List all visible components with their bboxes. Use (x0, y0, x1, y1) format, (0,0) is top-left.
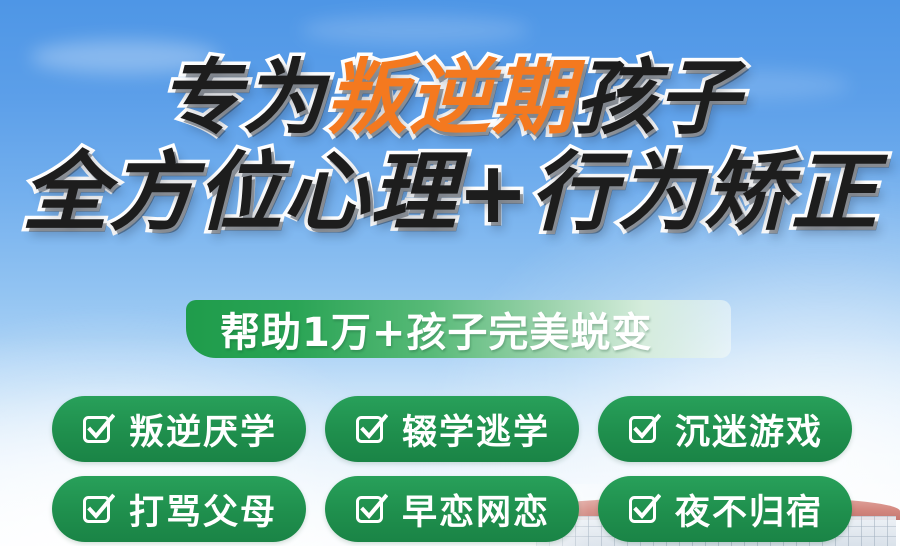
headline-line-2: 全方位心理+行为矫正 (0, 150, 900, 236)
tag-label: 夜不归宿 (675, 484, 823, 535)
tag-item[interactable]: 夜不归宿 (598, 476, 852, 542)
promo-banner: 专为叛逆期孩子 全方位心理+行为矫正 帮助1万+孩子完美蜕变 叛逆厌学 辍学逃学 (0, 0, 900, 546)
tag-item[interactable]: 辍学逃学 (325, 396, 579, 462)
checkbox-checked-icon (627, 412, 661, 446)
tag-list: 叛逆厌学 辍学逃学 沉迷游戏 打骂父母 (52, 396, 852, 542)
tag-label: 叛逆厌学 (129, 404, 277, 455)
cloud-wisp (300, 16, 530, 44)
headline-line1-suffix: 孩子 (575, 58, 741, 140)
subtitle-text: 帮助1万+孩子完美蜕变 (186, 300, 652, 358)
checkbox-checked-icon (627, 492, 661, 526)
checkbox-checked-icon (354, 412, 388, 446)
headline-line-1: 专为叛逆期孩子 (0, 58, 900, 140)
headline-line1-accent: 叛逆期 (326, 58, 575, 140)
checkbox-checked-icon (354, 492, 388, 526)
tag-item[interactable]: 叛逆厌学 (52, 396, 306, 462)
tag-label: 打骂父母 (129, 484, 277, 535)
tag-label: 早恋网恋 (402, 484, 550, 535)
tag-label: 辍学逃学 (402, 404, 550, 455)
checkbox-checked-icon (81, 412, 115, 446)
tag-item[interactable]: 早恋网恋 (325, 476, 579, 542)
headline-line1-prefix: 专为 (160, 58, 326, 140)
subtitle-banner: 帮助1万+孩子完美蜕变 (186, 300, 731, 358)
tag-label: 沉迷游戏 (675, 404, 823, 455)
headline-block: 专为叛逆期孩子 全方位心理+行为矫正 (0, 58, 900, 236)
checkbox-checked-icon (81, 492, 115, 526)
tag-item[interactable]: 打骂父母 (52, 476, 306, 542)
headline-line2-text: 全方位心理+行为矫正 (22, 150, 878, 236)
tag-item[interactable]: 沉迷游戏 (598, 396, 852, 462)
